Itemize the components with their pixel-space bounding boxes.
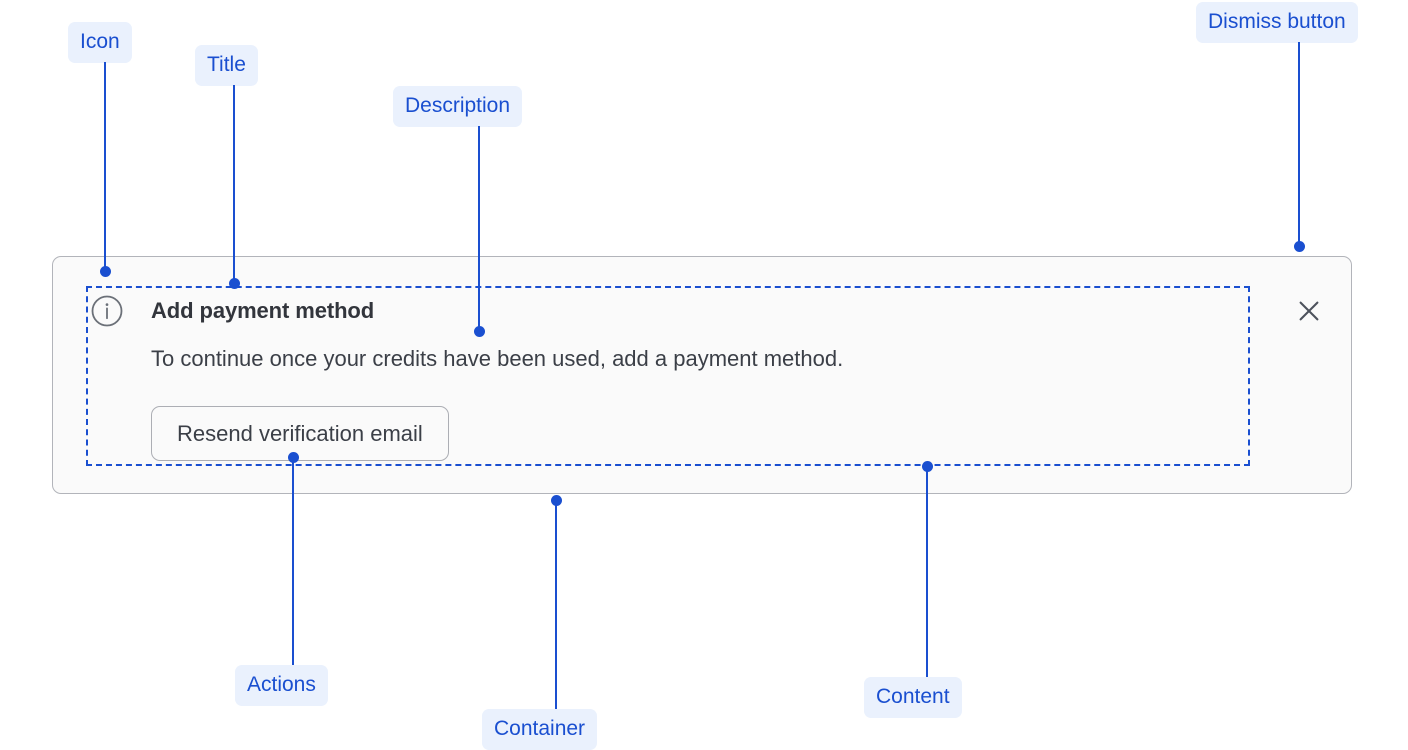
alert-container: Add payment method To continue once your… xyxy=(52,256,1352,494)
close-icon xyxy=(1296,298,1322,324)
resend-verification-email-button[interactable]: Resend verification email xyxy=(151,406,449,461)
annotation-label-dismiss-button: Dismiss button xyxy=(1196,2,1358,43)
alert-actions: Resend verification email xyxy=(151,406,449,461)
annotation-line-content xyxy=(926,469,928,677)
annotation-dot-dismiss-button xyxy=(1294,241,1305,252)
annotation-label-container: Container xyxy=(482,709,597,750)
info-circle-icon xyxy=(91,295,123,327)
annotation-label-actions: Actions xyxy=(235,665,328,706)
alert-title: Add payment method xyxy=(151,293,374,329)
annotation-label-icon: Icon xyxy=(68,22,132,63)
annotation-line-title xyxy=(233,85,235,283)
annotation-label-content: Content xyxy=(864,677,962,718)
alert-content: Add payment method To continue once your… xyxy=(86,286,1250,466)
dismiss-button[interactable] xyxy=(1291,293,1327,329)
annotation-label-title: Title xyxy=(195,45,258,86)
alert-description: To continue once your credits have been … xyxy=(151,341,843,377)
annotation-line-container xyxy=(555,503,557,709)
annotation-dot-container xyxy=(551,495,562,506)
annotation-line-icon xyxy=(104,62,106,271)
annotation-label-description: Description xyxy=(393,86,522,127)
annotation-line-dismiss-button xyxy=(1298,42,1300,246)
